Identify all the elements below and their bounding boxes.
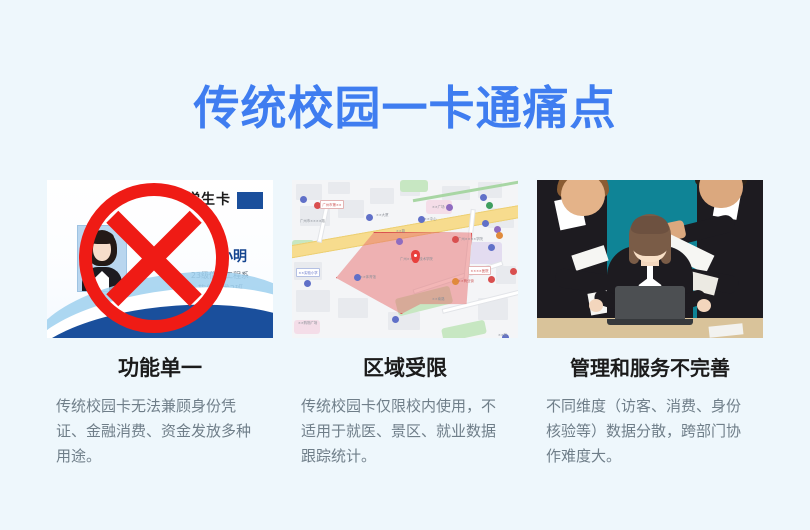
thumbnail-student-id-card: 学生卡 小明 23级信息工程系 软件技术2班 [47,180,273,338]
worker-hand-left [589,299,603,312]
map-graphic: 广州市第×× 广州市××××路 ××大厦 ××中心 ××广场 广州××××学院 … [292,180,518,338]
worker-fringe [631,216,669,234]
card-heading: 管理和服务不完善 [537,355,763,381]
feature-column-management-service: 管理和服务不完善 不同维度（访客、消费、身份核验等）数据分散，跨部门协作难度大。 [537,180,763,469]
page-title: 传统校园一卡通痛点 [0,80,810,136]
card-body-text: 传统校园卡仅限校内使用，不适用于就医、景区、就业数据跟踪统计。 [292,394,518,469]
feature-column-function-single: 学生卡 小明 23级信息工程系 软件技术2班 [47,180,273,469]
laptop-base [607,319,693,325]
card-heading: 功能单一 [47,355,273,381]
card-logo-badge [237,192,263,209]
worker-hand-right [697,299,711,312]
feature-column-area-limited: 广州市第×× 广州市××××路 ××大厦 ××中心 ××广场 广州××××学院 … [292,180,518,469]
card-body-text: 不同维度（访客、消费、身份核验等）数据分散，跨部门协作难度大。 [537,394,763,469]
thumbnail-map: 广州市第×× 广州市××××路 ××大厦 ××中心 ××广场 广州××××学院 … [292,180,518,338]
card-body-text: 传统校园卡无法兼顾身份凭证、金融消费、资金发放多种用途。 [47,394,273,469]
office-illustration-graphic [537,180,763,338]
card-heading: 区域受限 [292,355,518,381]
slide-root: 传统校园一卡通痛点 学生卡 小明 23级信息工程系 软件技术2班 [0,0,810,530]
prohibition-x-icon [79,183,229,333]
thumbnail-office-illustration [537,180,763,338]
laptop-screen [615,286,685,321]
